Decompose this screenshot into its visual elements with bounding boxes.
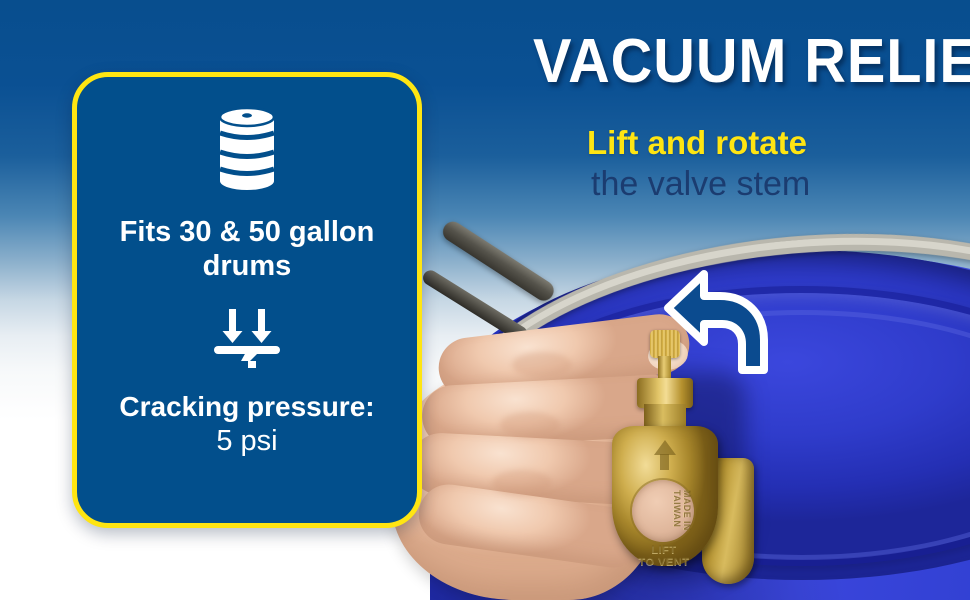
knuckle-crease-1 — [512, 352, 572, 378]
valve-emboss-text: LIFT TO VENT — [620, 544, 708, 568]
rotate-counterclockwise-arrow-icon — [660, 268, 772, 376]
subtitle-rest: the valve stem — [591, 165, 810, 204]
feature-2-value: 5 psi — [119, 424, 374, 459]
feature-2-label: Cracking pressure: — [119, 389, 374, 424]
subtitle-highlight: Lift and rotate — [587, 124, 807, 162]
feature-1-label: Fits 30 & 50 gallon drums — [77, 215, 417, 283]
page-title: VACUUM RELIEF — [533, 26, 970, 97]
feature-2: Cracking pressure: 5 psi — [119, 389, 374, 459]
knuckle-crease-3 — [492, 470, 552, 496]
drum-barrel-icon — [218, 107, 276, 191]
up-arrow-emboss-tail-icon — [660, 454, 669, 470]
knuckle-crease-2 — [500, 412, 560, 438]
promo-banner: LIFT TO VENT MADE IN TAIWAN VACUUM RELIE… — [0, 0, 970, 600]
valve-emboss-origin-text: MADE IN TAIWAN — [672, 490, 692, 568]
feature-card: Fits 30 & 50 gallon drums Cracking press… — [72, 72, 422, 528]
valve-emboss-line-2: TO VENT — [620, 556, 708, 568]
downward-pressure-icon — [210, 309, 284, 369]
valve-emboss-line-1: LIFT — [620, 544, 708, 556]
up-arrow-emboss-icon — [654, 440, 676, 455]
